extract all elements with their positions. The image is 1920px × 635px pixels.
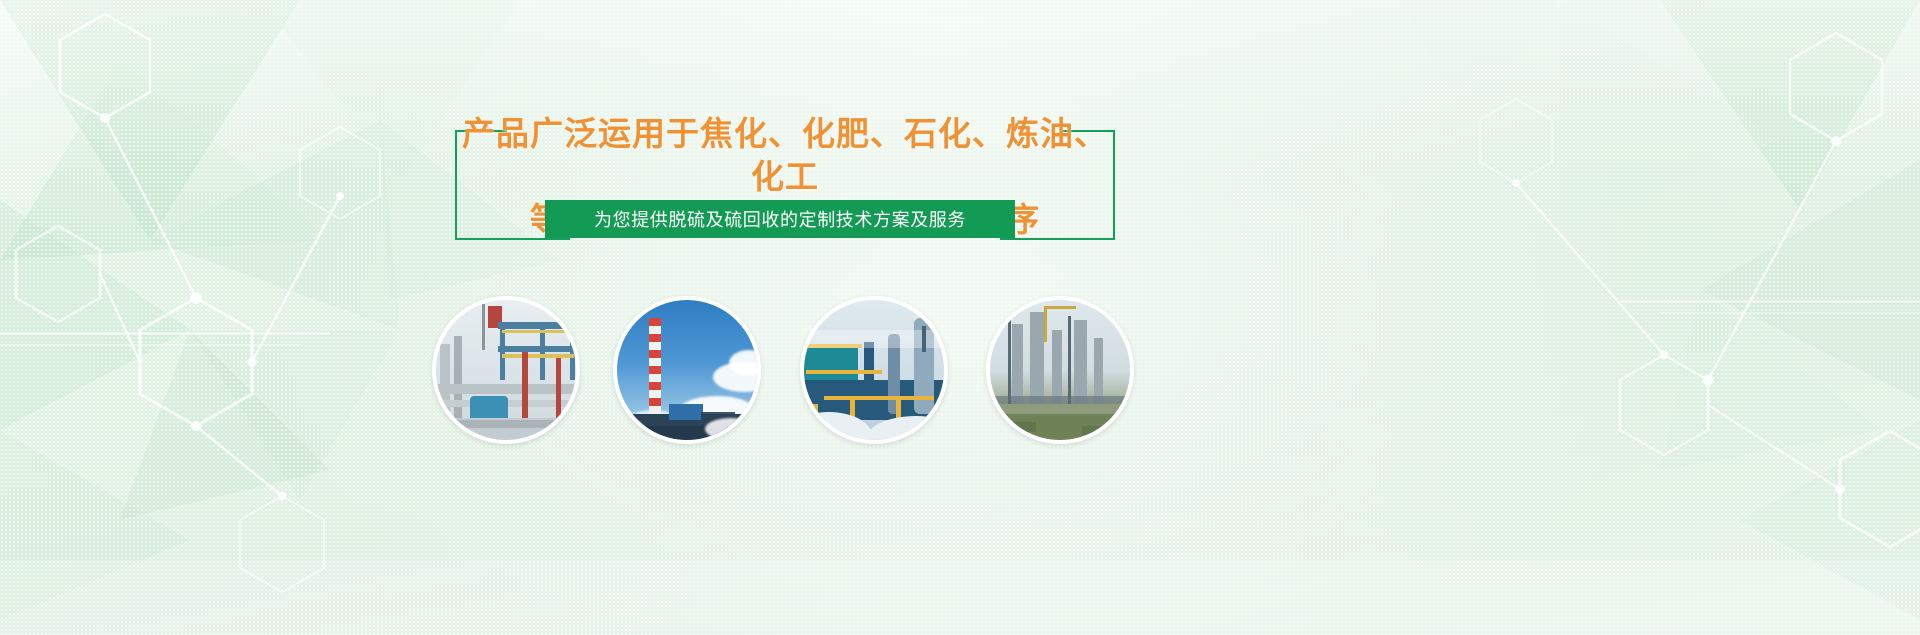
photo-refinery-pipework-image	[436, 300, 576, 440]
photo-chimney-stack-image	[617, 300, 757, 440]
photo-chimney-stack[interactable]	[613, 296, 761, 444]
banner-content: 产品广泛运用于焦化、化肥、石化、炼油、化工 等领域中的湿法脱硫的硫回收工序 为您…	[0, 0, 1920, 635]
subtitle-text: 为您提供脱硫及硫回收的定制技术方案及服务	[594, 206, 966, 232]
headline-line-1: 产品广泛运用于焦化、化肥、石化、炼油、化工	[455, 112, 1115, 198]
photo-refinery-towers[interactable]	[986, 296, 1134, 444]
photo-chemical-plant-image	[804, 300, 944, 440]
photo-refinery-pipework[interactable]	[432, 296, 580, 444]
hero-banner: 产品广泛运用于焦化、化肥、石化、炼油、化工 等领域中的湿法脱硫的硫回收工序 为您…	[0, 0, 1920, 635]
photo-refinery-towers-image	[990, 300, 1130, 440]
subtitle-bar: 为您提供脱硫及硫回收的定制技术方案及服务	[545, 200, 1015, 238]
photo-chemical-plant[interactable]	[800, 296, 948, 444]
photo-strip	[0, 296, 1920, 446]
